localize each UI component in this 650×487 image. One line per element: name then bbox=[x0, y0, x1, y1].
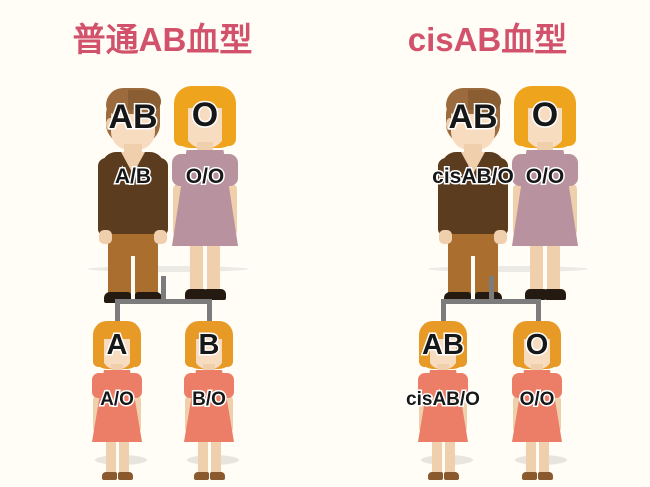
dress-bodice bbox=[524, 370, 550, 390]
connector-drop-right-2 bbox=[536, 299, 541, 321]
hand-right bbox=[154, 230, 167, 244]
hand-right bbox=[494, 230, 507, 244]
ear bbox=[446, 118, 454, 130]
sleeve-left bbox=[92, 373, 106, 398]
sleeve-right bbox=[560, 154, 578, 186]
panel-title-cis-ab: cisAB血型 bbox=[325, 20, 650, 60]
sleeve-left bbox=[418, 373, 432, 398]
figure-father-cis-ab bbox=[438, 88, 508, 304]
panel-title-normal-ab: 普通AB血型 bbox=[0, 20, 325, 60]
connector-crossbar-right bbox=[441, 299, 541, 304]
figure-child-2-normal-ab bbox=[183, 321, 235, 481]
shoe-left bbox=[522, 472, 537, 480]
hand-left bbox=[439, 230, 452, 244]
sleeve-left bbox=[172, 154, 190, 186]
sleeve-right bbox=[128, 373, 142, 398]
connector-stem-left bbox=[161, 276, 166, 300]
infographic-canvas: 普通AB血型 cisAB血型 AB A/B bbox=[0, 0, 650, 487]
shoe-left bbox=[102, 472, 117, 480]
figure-child-1-cis-ab bbox=[417, 321, 469, 481]
connector-stem-right bbox=[489, 276, 494, 300]
sleeve-right bbox=[220, 373, 234, 398]
hair-fringe-side bbox=[128, 90, 161, 110]
connector-crossbar-left bbox=[115, 299, 212, 304]
hair-fringe bbox=[514, 86, 576, 108]
shoe-left bbox=[428, 472, 443, 480]
hair-fringe bbox=[513, 321, 561, 339]
hand-left bbox=[99, 230, 112, 244]
figure-child-2-cis-ab bbox=[511, 321, 563, 481]
sleeve-left bbox=[512, 373, 526, 398]
sleeve-left bbox=[184, 373, 198, 398]
hair-fringe-side bbox=[468, 90, 501, 110]
dress-bodice bbox=[526, 150, 564, 176]
shoe-right bbox=[545, 289, 566, 300]
sleeve-left bbox=[512, 154, 530, 186]
hair-fringe bbox=[419, 321, 467, 339]
dress-bodice bbox=[104, 370, 130, 390]
shoe-right bbox=[118, 472, 133, 480]
connector-drop-left-2 bbox=[207, 299, 212, 321]
hair-fringe bbox=[93, 321, 141, 339]
sleeve-right bbox=[548, 373, 562, 398]
sleeve-right bbox=[220, 154, 238, 186]
figure-mother-cis-ab bbox=[510, 86, 580, 302]
figure-child-1-normal-ab bbox=[91, 321, 143, 481]
shoe-right bbox=[538, 472, 553, 480]
figure-father-normal-ab bbox=[98, 88, 168, 304]
figure-mother-normal-ab bbox=[170, 86, 240, 302]
ear bbox=[106, 118, 114, 130]
hair-fringe bbox=[174, 86, 236, 108]
hair-fringe bbox=[185, 321, 233, 339]
dress-bodice bbox=[196, 370, 222, 390]
shoe-right bbox=[444, 472, 459, 480]
connector-drop-right-1 bbox=[441, 299, 446, 321]
shoe-right bbox=[210, 472, 225, 480]
shoe-left bbox=[194, 472, 209, 480]
sleeve-right bbox=[454, 373, 468, 398]
dress-bodice bbox=[186, 150, 224, 176]
connector-drop-left-1 bbox=[115, 299, 120, 321]
dress-bodice bbox=[430, 370, 456, 390]
